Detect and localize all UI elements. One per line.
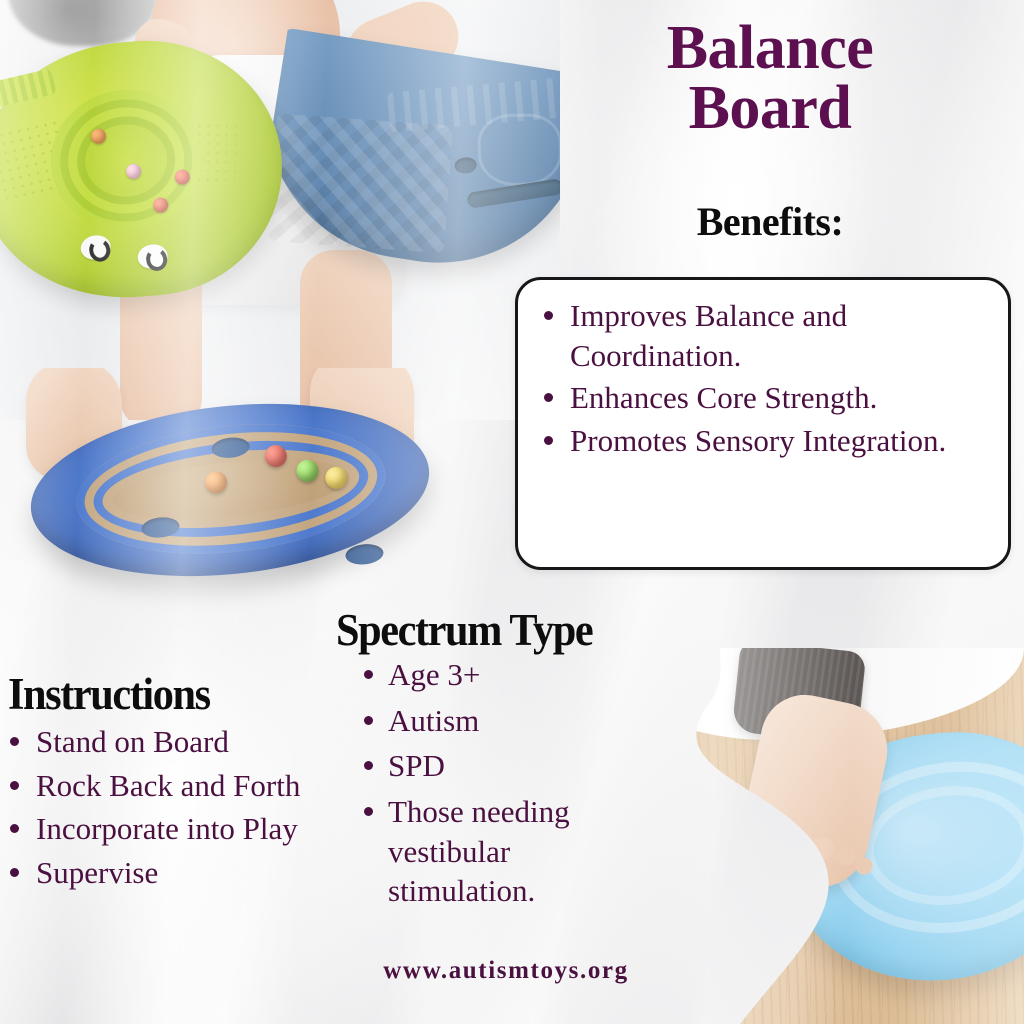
list-item: Rock Back and Forth [4, 766, 324, 806]
maze-hole-1 [211, 436, 251, 460]
list-item: Promotes Sensory Integration. [570, 421, 986, 461]
maze-hole-2 [141, 516, 181, 540]
photo-child-with-boards [0, 0, 560, 420]
instructions-list: Stand on Board Rock Back and Forth Incor… [4, 722, 324, 897]
blue-board-hole [454, 157, 477, 175]
list-item: SPD [360, 746, 660, 786]
list-item: Age 3+ [360, 655, 660, 695]
website-url[interactable]: www.autismtoys.org [336, 957, 676, 985]
list-item: Enhances Core Strength. [570, 378, 986, 418]
blue-board-body [250, 26, 560, 283]
blue-rocker-board [250, 14, 560, 318]
maze-hole-3 [345, 542, 385, 566]
list-item: Supervise [4, 853, 324, 893]
list-item: Autism [360, 701, 660, 741]
frog-eye-left [79, 233, 113, 262]
list-item: Stand on Board [4, 722, 324, 762]
blue-board-animal-emboss [477, 113, 560, 186]
blue-board-grip-pattern [268, 113, 453, 253]
page-title: Balance Board [560, 18, 980, 138]
benefits-box: Improves Balance and Coordination. Enhan… [515, 277, 1011, 570]
list-item: Improves Balance and Coordination. [570, 296, 986, 375]
maze-track [70, 410, 391, 568]
green-board-spiral-maze [45, 84, 207, 237]
infographic-poster: Balance Board Benefits: Improves Balance… [0, 0, 1024, 1024]
spectrum-type-heading: Spectrum Type [336, 604, 592, 656]
instructions-heading: Instructions [8, 668, 210, 720]
benefits-list: Improves Balance and Coordination. Enhan… [518, 280, 1008, 461]
list-item: Those needing vestibular stimulation. [360, 792, 660, 911]
page-title-line-2: Board [560, 78, 980, 138]
frog-eye-right [136, 242, 169, 270]
spectrum-type-list: Age 3+ Autism SPD Those needing vestibul… [360, 655, 660, 917]
page-title-line-1: Balance [560, 18, 980, 78]
list-item: Incorporate into Play [4, 809, 324, 849]
green-board-strip-emboss [0, 68, 57, 108]
benefits-heading: Benefits: [560, 198, 980, 245]
photo-feet-on-maze-board [0, 368, 470, 618]
